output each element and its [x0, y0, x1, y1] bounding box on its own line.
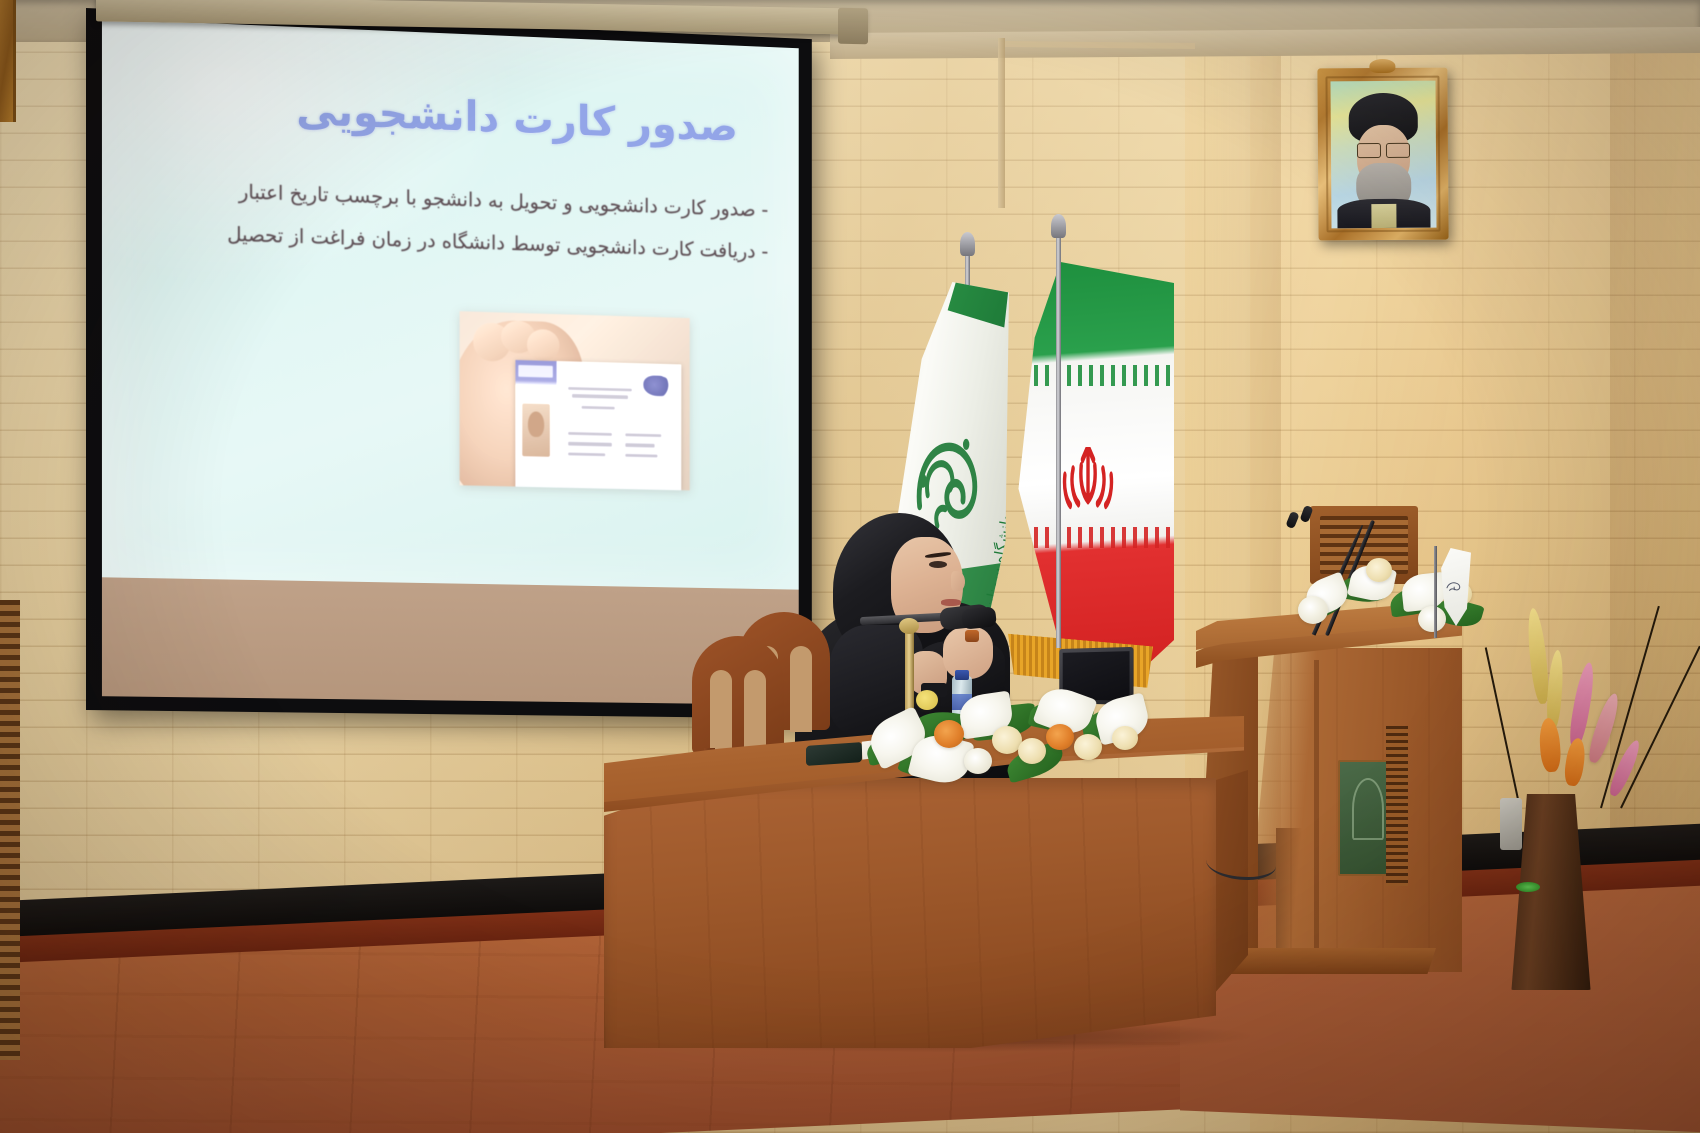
rose-flower: [1298, 596, 1328, 624]
flagpole-finial-iran: [1051, 214, 1066, 238]
speaker-eye: [929, 561, 947, 568]
desk-front-panel: [604, 778, 1216, 1048]
projection-screen-roller-end: [838, 8, 868, 45]
card-face-shape: [528, 412, 544, 438]
podium-groove: [1314, 660, 1319, 960]
podium-panel-motif: [1352, 778, 1384, 840]
rose-flower-cream: [1112, 726, 1138, 750]
card-field-1: [568, 432, 611, 436]
slide-photo-student-id: [459, 312, 690, 490]
speaker-nose: [951, 571, 965, 591]
portrait-glasses-icon: [1357, 143, 1410, 157]
card-value-2: [625, 443, 655, 447]
green-indicator-light: [1516, 882, 1540, 892]
picture-frame-partial-icon: [0, 0, 16, 122]
card-field-2: [568, 442, 611, 446]
projector-glare: [102, 19, 539, 312]
rose-flower-orange: [934, 720, 964, 748]
rose-flower-cream: [1018, 738, 1046, 764]
projection-screen: صدور کارت دانشجویی - صدور کارت دانشجویی …: [86, 8, 812, 719]
microphone-icon: [961, 606, 997, 629]
desk-flag-pole: [1434, 546, 1437, 638]
equipment-box: [1500, 798, 1522, 850]
portrait-crest-ornament: [1369, 59, 1395, 73]
card-portrait-photo: [522, 403, 550, 457]
speaker-mouth: [941, 599, 961, 606]
slide-title: صدور کارت دانشجویی: [296, 85, 738, 150]
presentation-slide: صدور کارت دانشجویی - صدور کارت دانشجویی …: [102, 19, 799, 590]
iran-emblem-icon: [1054, 447, 1122, 510]
portrait-collar: [1371, 204, 1396, 228]
flagpole-finial-university: [960, 232, 975, 256]
card-strip-header: [518, 365, 552, 377]
rose-flower-orange: [1046, 724, 1074, 750]
card-value-1: [625, 433, 661, 437]
finger-3: [527, 329, 559, 361]
rose-flower-cream: [1366, 558, 1392, 582]
floor-vase-arrangement: [1470, 588, 1690, 988]
card-left-strip: [515, 360, 557, 487]
orange-flower: [1563, 737, 1588, 787]
twig: [1485, 647, 1520, 804]
podium-vent-strip: [1386, 726, 1408, 886]
twig: [1620, 646, 1700, 809]
rose-flower: [1418, 606, 1446, 632]
wall-vent-left: [0, 600, 20, 1060]
card-text-line-2: [572, 394, 628, 399]
slide-bullet-list: - صدور کارت دانشجویی و تحویل به دانشجو ب…: [227, 171, 768, 274]
lecture-hall-photo: صدور کارت دانشجویی - صدور کارت دانشجویی …: [0, 0, 1700, 1133]
bud-flower: [916, 690, 938, 710]
card-text-line-3: [582, 406, 615, 410]
flag-iran-kufic-top: [1012, 365, 1174, 386]
rose-flower: [964, 748, 992, 774]
podium-base: [1222, 948, 1436, 974]
rose-flower-cream: [1074, 734, 1102, 760]
door-frame-vertical: [998, 38, 1005, 208]
card-emblem-icon: [643, 375, 671, 397]
flagpole-iran: [1056, 228, 1061, 648]
student-id-card: [515, 360, 681, 490]
orange-flower: [1538, 717, 1562, 772]
card-field-3: [568, 452, 605, 456]
framed-portrait: [1317, 68, 1448, 241]
portrait-image: [1330, 81, 1436, 229]
projection-screen-surface: صدور کارت دانشجویی - صدور کارت دانشجویی …: [102, 19, 799, 705]
flower-arrangement-desk: [860, 676, 1150, 796]
microphone-tip: [965, 630, 979, 642]
card-value-3: [625, 453, 658, 457]
microphone-stand-knob: [899, 618, 919, 634]
card-text-line-1: [568, 387, 631, 392]
mobile-phone: [806, 742, 862, 766]
desk-flag-emblem-icon: [1445, 571, 1465, 601]
